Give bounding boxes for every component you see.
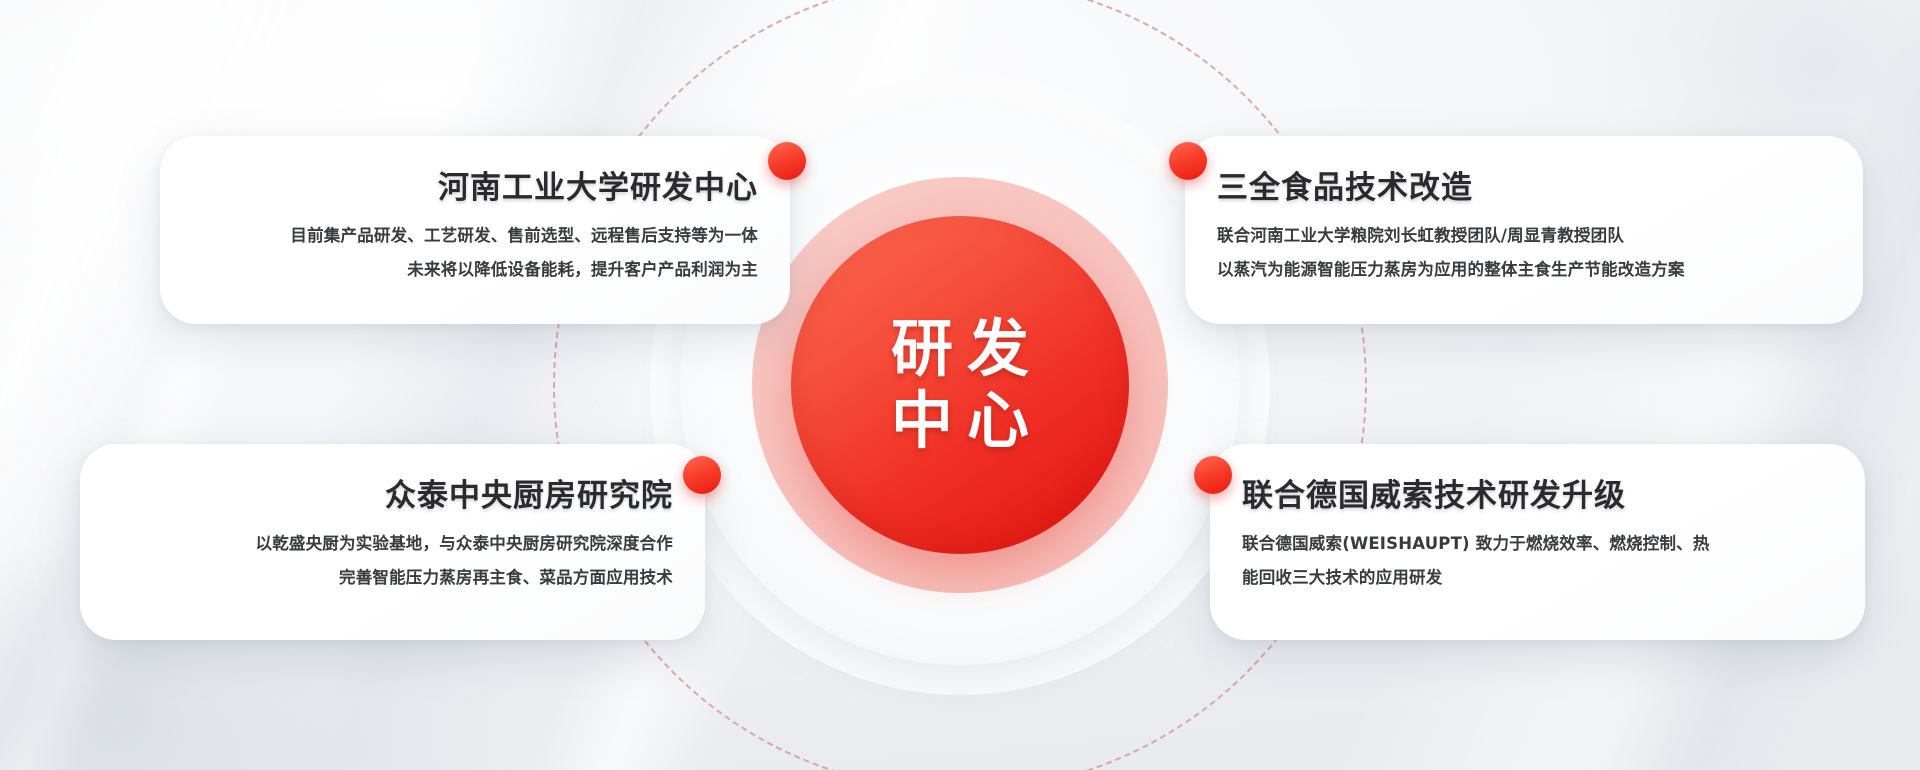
- center-badge-line-2: 中心: [877, 385, 1043, 457]
- card-line: 联合河南工业大学粮院刘长虹教授团队/周显青教授团队: [1217, 223, 1831, 249]
- card-line: 未来将以降低设备能耗，提升客户产品利润为主: [192, 257, 758, 283]
- card-title: 众泰中央厨房研究院: [112, 470, 673, 515]
- card-weishaupt-joint-rd-upgrade[interactable]: 联合德国威索技术研发升级 联合德国威索(WEISHAUPT) 致力于燃烧效率、燃…: [1210, 444, 1865, 640]
- research-center-infographic: 研发 中心 河南工业大学研发中心 目前集产品研发、工艺研发、售前选型、远程售后支…: [0, 0, 1920, 770]
- card-henan-university-of-technology-rd-center[interactable]: 河南工业大学研发中心 目前集产品研发、工艺研发、售前选型、远程售后支持等为一体 …: [160, 136, 790, 324]
- card-zhongtai-central-kitchen-institute[interactable]: 众泰中央厨房研究院 以乾盛央厨为实验基地，与众泰中央厨房研究院深度合作 完善智能…: [80, 444, 705, 640]
- card-line: 联合德国威索(WEISHAUPT) 致力于燃烧效率、燃烧控制、热: [1242, 531, 1833, 557]
- card-line: 目前集产品研发、工艺研发、售前选型、远程售后支持等为一体: [192, 223, 758, 249]
- card-line: 能回收三大技术的应用研发: [1242, 565, 1833, 591]
- center-badge-line-1: 研发: [877, 313, 1043, 385]
- card-marker-dot-icon: [1194, 456, 1232, 494]
- card-marker-dot-icon: [683, 456, 721, 494]
- card-title: 三全食品技术改造: [1217, 162, 1831, 207]
- card-line: 以蒸汽为能源智能压力蒸房为应用的整体主食生产节能改造方案: [1217, 257, 1831, 283]
- card-title: 河南工业大学研发中心: [192, 162, 758, 207]
- card-line: 以乾盛央厨为实验基地，与众泰中央厨房研究院深度合作: [112, 531, 673, 557]
- card-marker-dot-icon: [1169, 142, 1207, 180]
- center-badge: 研发 中心: [791, 216, 1129, 554]
- card-marker-dot-icon: [768, 142, 806, 180]
- card-title: 联合德国威索技术研发升级: [1242, 470, 1833, 515]
- card-sanquan-food-technical-renovation[interactable]: 三全食品技术改造 联合河南工业大学粮院刘长虹教授团队/周显青教授团队 以蒸汽为能…: [1185, 136, 1863, 324]
- card-line: 完善智能压力蒸房再主食、菜品方面应用技术: [112, 565, 673, 591]
